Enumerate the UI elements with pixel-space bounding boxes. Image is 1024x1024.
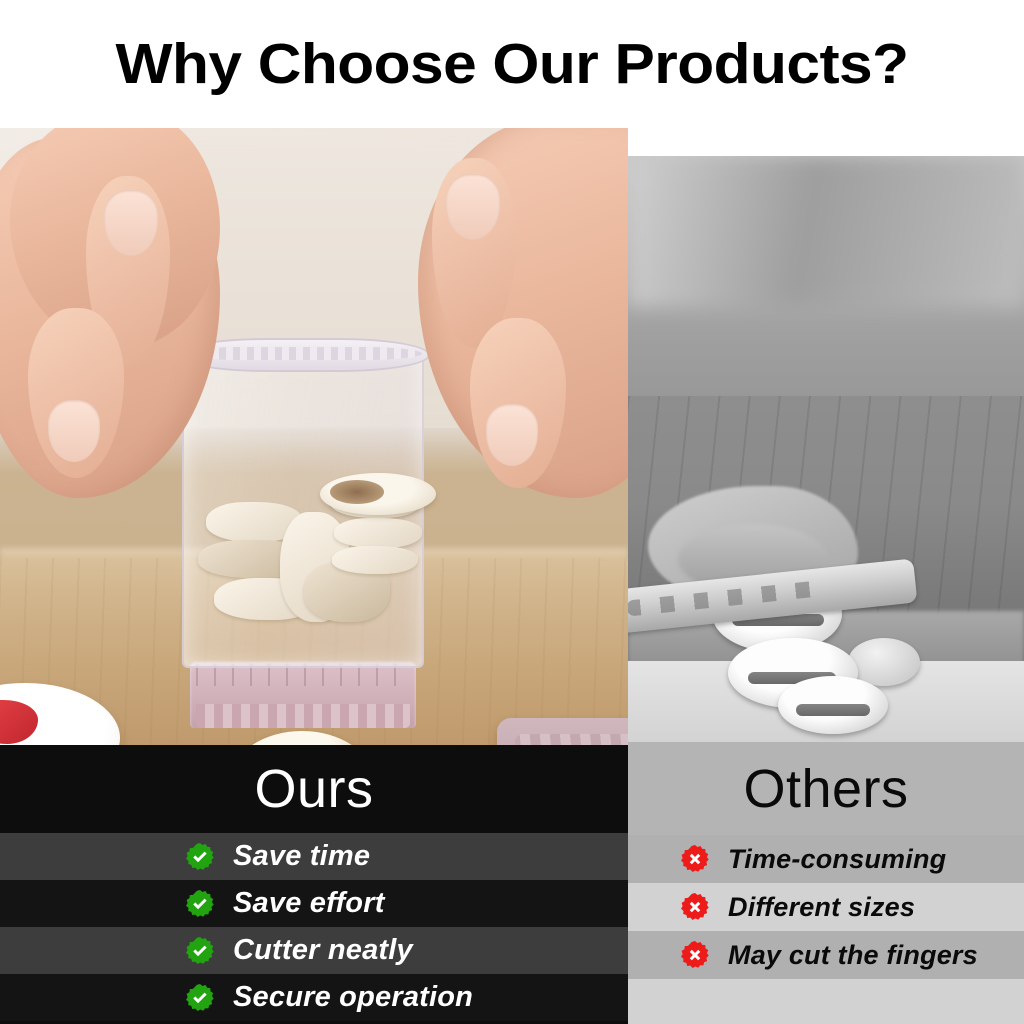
green-check-badge-icon (185, 889, 215, 919)
photo-comparison-area (0, 128, 1024, 745)
slicer-teeth (196, 704, 410, 728)
list-item: Cutter neatly (0, 927, 628, 974)
green-check-badge-icon (185, 842, 215, 872)
list-item-label: Different sizes (728, 892, 915, 923)
others-column: Others Time-consuming (628, 742, 1024, 1024)
comparison-panels: Ours Save time Save (0, 745, 1024, 1024)
others-header: Others (628, 742, 1024, 835)
green-check-badge-icon (185, 983, 215, 1013)
manual-knife-slicing-photo (628, 156, 1024, 745)
mushroom-slice (334, 518, 422, 548)
mushroom-slicer-in-use-photo (0, 128, 628, 745)
others-header-label: Others (743, 758, 908, 820)
list-item: Secure operation (0, 974, 628, 1021)
list-item-label: Time-consuming (728, 844, 946, 875)
photo-background-blur (628, 156, 1024, 306)
list-item-label: Secure operation (233, 981, 473, 1014)
list-item-label: May cut the fingers (728, 940, 978, 971)
page-title: Why Choose Our Products? (116, 31, 909, 97)
ours-header: Ours (0, 745, 628, 833)
list-item-label: Save time (233, 840, 370, 873)
page-header: Why Choose Our Products? (0, 0, 1024, 128)
mushroom-slice (332, 546, 418, 574)
green-check-badge-icon (185, 936, 215, 966)
others-feature-list: Time-consuming Different sizes (628, 835, 1024, 979)
list-item: Different sizes (628, 883, 1024, 931)
pink-slicer-lid (497, 718, 628, 745)
list-item: Save effort (0, 880, 628, 927)
list-item-label: Save effort (233, 887, 385, 920)
list-item: Time-consuming (628, 835, 1024, 883)
list-item: May cut the fingers (628, 931, 1024, 979)
red-cross-badge-icon (680, 844, 710, 874)
mushroom-gills (796, 704, 870, 716)
ours-header-label: Ours (254, 758, 373, 820)
red-cross-badge-icon (680, 940, 710, 970)
red-cross-badge-icon (680, 892, 710, 922)
list-item: Save time (0, 833, 628, 880)
list-item-label: Cutter neatly (233, 934, 413, 967)
ours-column: Ours Save time Save (0, 745, 628, 1024)
mushroom-gills (330, 480, 384, 504)
ours-feature-list: Save time Save effort (0, 833, 628, 1021)
